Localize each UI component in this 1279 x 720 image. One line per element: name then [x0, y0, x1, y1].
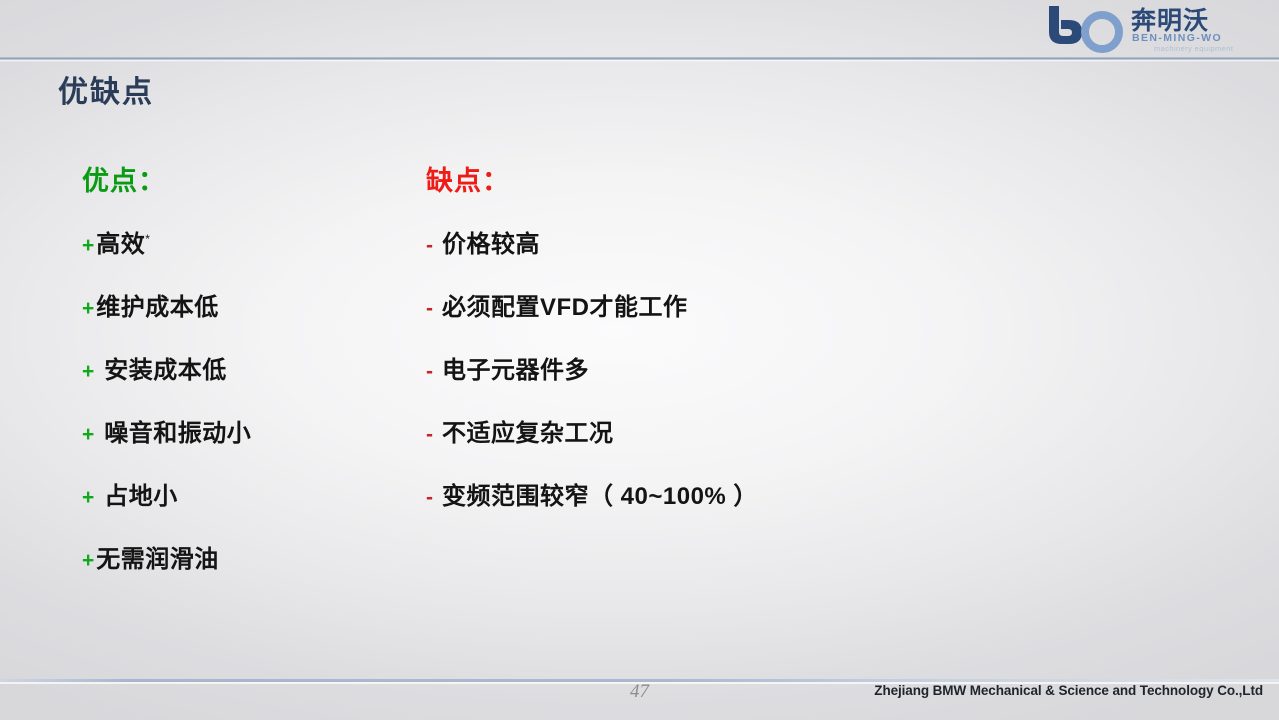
cons-heading: 缺点：	[426, 168, 946, 195]
list-item: + 安装成本低	[82, 359, 412, 383]
minus-icon: -	[426, 298, 433, 319]
minus-icon: -	[426, 487, 433, 508]
minus-icon: -	[426, 361, 433, 382]
list-item: + 无需润滑油	[82, 548, 412, 572]
minus-icon: -	[426, 424, 433, 445]
list-item: + 维护成本低	[82, 296, 412, 320]
plus-icon: +	[82, 424, 94, 445]
logo-latin-name: BEN-MING-WO	[1132, 32, 1222, 44]
company-logo-svg: 奔明沃 BEN-MING-WO machinery equipment	[1039, 2, 1269, 54]
header-divider-highlight	[0, 60, 1279, 62]
logo-chinese-name: 奔明沃	[1131, 7, 1209, 35]
plus-icon: +	[82, 361, 94, 382]
list-item-label: 不适应复杂工况	[442, 422, 614, 446]
logo-tagline: machinery equipment	[1154, 44, 1234, 53]
list-item-label: 高效*	[96, 233, 150, 257]
cons-list: - 价格较高 - 必须配置VFD才能工作 - 电子元器件多 - 不适应复杂工况 …	[426, 233, 946, 509]
footnote-marker: *	[145, 232, 150, 246]
pros-heading: 优点：	[82, 168, 412, 195]
list-item: + 占地小	[82, 485, 412, 509]
list-item-label: 噪音和振动小	[104, 422, 251, 446]
list-item-label: 价格较高	[442, 233, 540, 257]
company-logo: 奔明沃 BEN-MING-WO machinery equipment	[1039, 2, 1269, 54]
list-item-label: 维护成本低	[96, 296, 219, 320]
page-title: 优缺点	[58, 78, 154, 108]
plus-icon: +	[82, 298, 94, 319]
list-item-label: 变频范围较窄（ 40~100% ）	[442, 485, 758, 509]
pros-column: 优点： + 高效* + 维护成本低 + 安装成本低 + 噪音和振动小 + 占地小	[82, 168, 412, 611]
list-item-label: 无需润滑油	[96, 548, 219, 572]
list-item-label: 占地小	[104, 485, 178, 509]
slide-canvas: 奔明沃 BEN-MING-WO machinery equipment 优缺点 …	[0, 0, 1279, 720]
list-item: - 必须配置VFD才能工作	[426, 296, 946, 320]
list-item: - 不适应复杂工况	[426, 422, 946, 446]
footer-company-name: Zhejiang BMW Mechanical & Science and Te…	[874, 683, 1263, 698]
pros-list: + 高效* + 维护成本低 + 安装成本低 + 噪音和振动小 + 占地小 +	[82, 233, 412, 572]
list-item-label: 电子元器件多	[442, 359, 589, 383]
list-item: - 电子元器件多	[426, 359, 946, 383]
plus-icon: +	[82, 235, 94, 256]
minus-icon: -	[426, 235, 433, 256]
cons-column: 缺点： - 价格较高 - 必须配置VFD才能工作 - 电子元器件多 - 不适应复…	[426, 168, 946, 548]
list-item: + 噪音和振动小	[82, 422, 412, 446]
list-item-text: 高效	[96, 231, 145, 258]
list-item: - 价格较高	[426, 233, 946, 257]
list-item: - 变频范围较窄（ 40~100% ）	[426, 485, 946, 509]
list-item-label: 安装成本低	[104, 359, 227, 383]
plus-icon: +	[82, 487, 94, 508]
list-item: + 高效*	[82, 233, 412, 257]
plus-icon: +	[82, 550, 94, 571]
logo-bo-mark	[1049, 6, 1119, 49]
list-item-label: 必须配置VFD才能工作	[442, 296, 688, 320]
